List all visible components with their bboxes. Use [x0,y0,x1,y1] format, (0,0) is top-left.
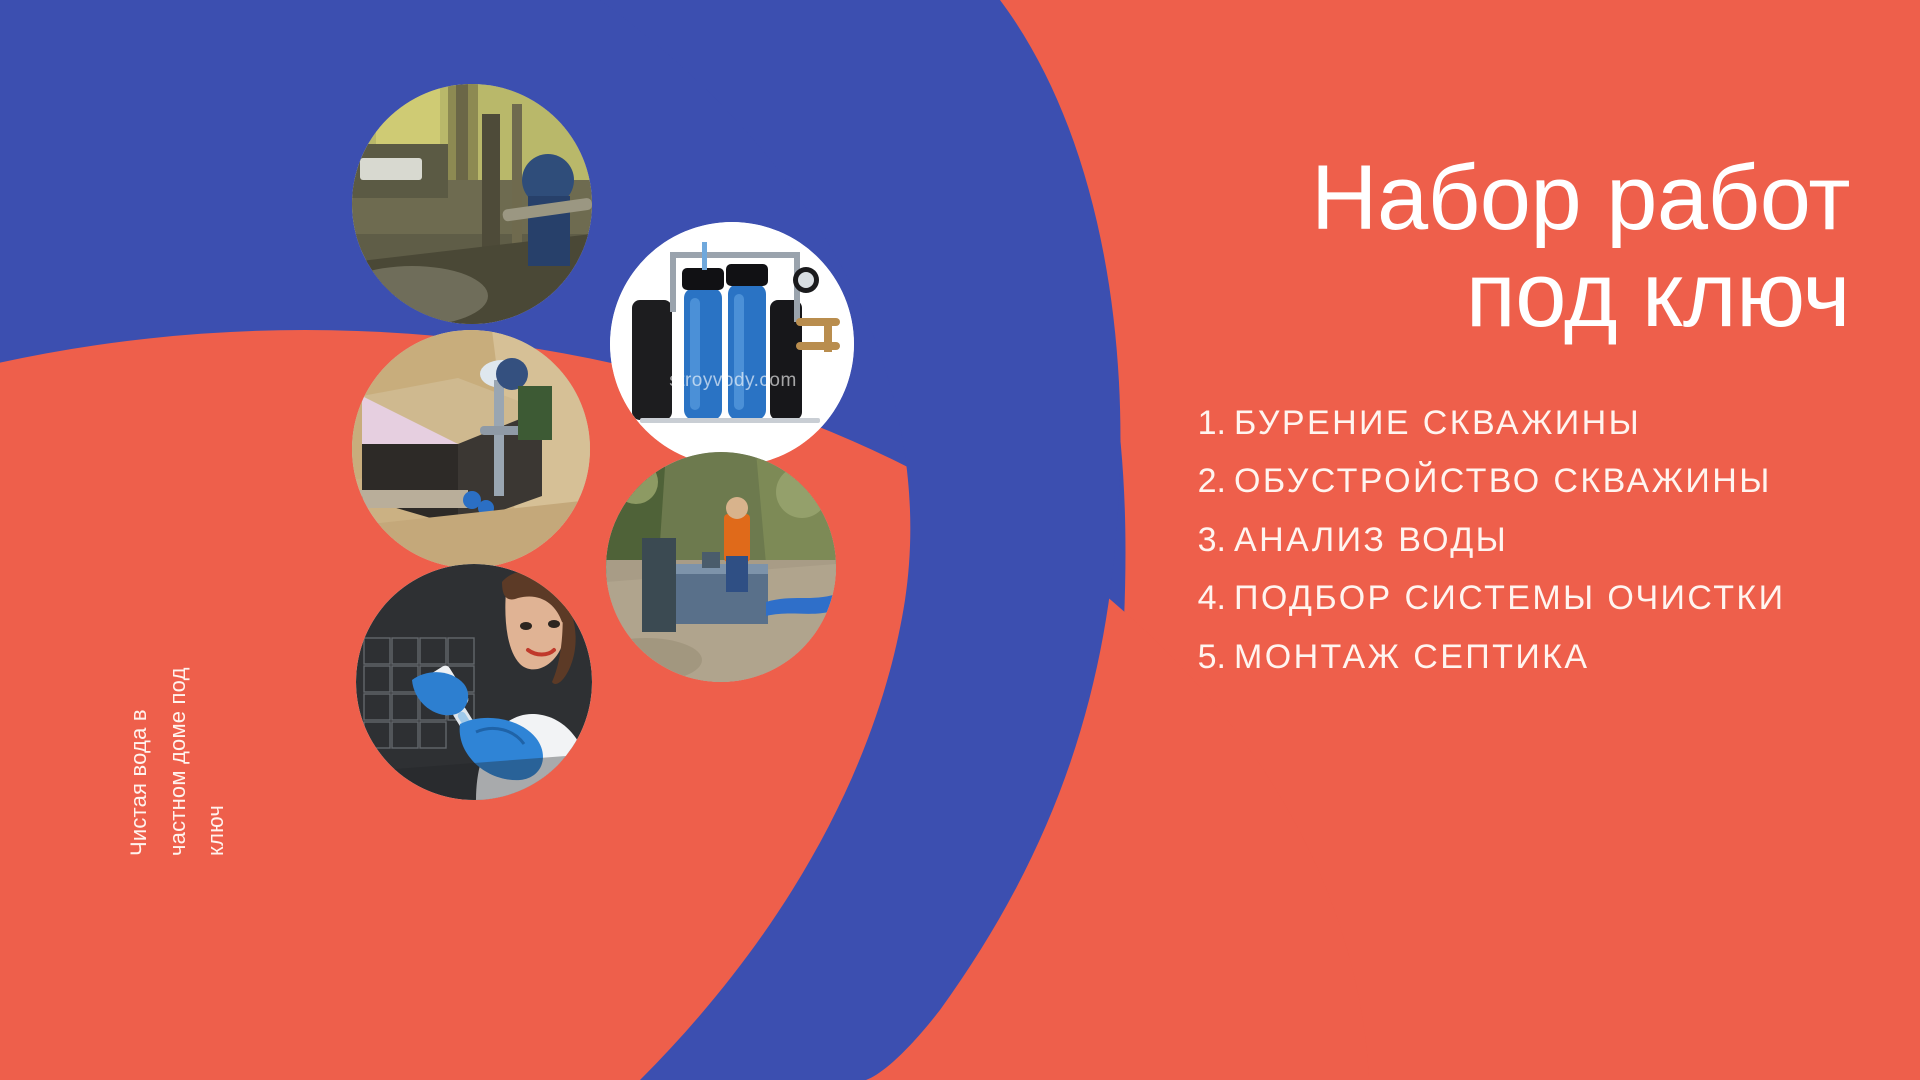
step-label: Анализ воды [1234,511,1860,569]
step-number: 2. [1180,452,1226,510]
step-number: 4. [1180,569,1226,627]
photo-drilling-rig [352,84,592,324]
photo-drilling-rig-art [352,84,592,324]
photo-water-filters-art [610,222,854,466]
step-label: Бурение скважины [1234,394,1860,452]
service-steps-list: 1. Бурение скважины 2. Обустройство сква… [1180,394,1860,686]
list-item: 4. Подбор системы очистки [1180,569,1860,627]
step-label: Обустройство скважины [1234,452,1860,510]
step-label: Монтаж септика [1234,628,1860,686]
poster-canvas: Чистая вода в частном доме под ключ [0,0,1920,1080]
step-number: 3. [1180,511,1226,569]
vertical-tagline: Чистая вода в частном доме под ключ [60,256,220,556]
photo-water-filters [610,222,854,466]
photo-septic-install [606,452,836,682]
list-item: 5. Монтаж септика [1180,628,1860,686]
photo-lab-analysis-art [356,564,592,800]
vertical-tagline-text: Чистая вода в частном доме под ключ [120,556,236,856]
list-item: 1. Бурение скважины [1180,394,1860,452]
step-label: Подбор системы очистки [1234,569,1860,627]
page-title: Набор работ под ключ [1030,150,1850,345]
step-number: 5. [1180,628,1226,686]
photo-septic-install-art [606,452,836,682]
photo-lab-analysis [356,564,592,800]
photo-caisson [352,330,590,568]
list-item: 3. Анализ воды [1180,511,1860,569]
list-item: 2. Обустройство скважины [1180,452,1860,510]
photo-caisson-art [352,330,590,568]
step-number: 1. [1180,394,1226,452]
